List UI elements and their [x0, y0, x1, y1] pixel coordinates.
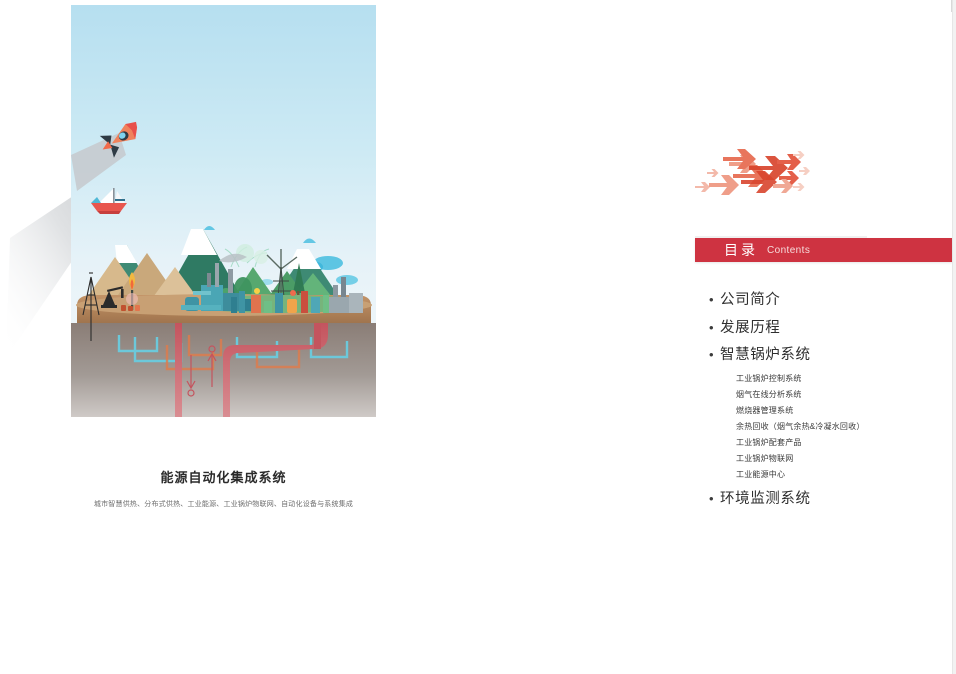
- toc-item-label: 发展历程: [720, 320, 780, 337]
- poster-subtitle: 城市智慧供热、分布式供热、工业能源、工业锅炉物联网、自动化设备与系统集成: [71, 500, 376, 510]
- poster-scene-svg: [71, 5, 376, 417]
- toc-sublist: 工业锅炉控制系统 烟气在线分析系统 燃烧器管理系统 余热回收（烟气余热&冷凝水回…: [709, 375, 953, 479]
- toc-subitem[interactable]: 工业锅炉控制系统: [736, 375, 953, 383]
- section-header-bar: 目录 Contents: [695, 238, 953, 262]
- bullet-icon: •: [709, 321, 720, 334]
- document-page: 能源自动化集成系统 城市智慧供热、分布式供热、工业能源、工业锅炉物联网、自动化设…: [0, 0, 956, 674]
- toc-subitem[interactable]: 工业锅炉配套产品: [736, 439, 953, 447]
- toc-subitem[interactable]: 余热回收（烟气余热&冷凝水回收）: [736, 423, 953, 431]
- bullet-icon: •: [709, 293, 720, 306]
- bullet-icon: •: [709, 492, 720, 505]
- page-right-edge: [952, 0, 956, 674]
- toc-item-history[interactable]: • 发展历程: [709, 320, 953, 337]
- toc-subitem[interactable]: 工业锅炉物联网: [736, 455, 953, 463]
- toc-item-smart-boiler-system[interactable]: • 智慧锅炉系统: [709, 347, 953, 364]
- section-title-en: Contents: [767, 245, 810, 256]
- page-edge-tick: [951, 0, 952, 12]
- contents-panel: 目录 Contents • 公司简介 • 发展历程 • 智慧锅炉系统 工业锅炉控…: [695, 140, 953, 519]
- bullet-icon: •: [709, 348, 720, 361]
- toc-subitem[interactable]: 燃烧器管理系统: [736, 407, 953, 415]
- arrow-cluster-logo-icon: [693, 140, 818, 202]
- toc-subitem[interactable]: 工业能源中心: [736, 471, 953, 479]
- section-title-cn: 目录: [724, 240, 758, 260]
- table-of-contents: • 公司简介 • 发展历程 • 智慧锅炉系统 工业锅炉控制系统 烟气在线分析系统…: [695, 292, 953, 508]
- poster-illustration: [71, 5, 376, 417]
- toc-item-label: 智慧锅炉系统: [720, 347, 811, 364]
- toc-item-company-intro[interactable]: • 公司简介: [709, 292, 953, 309]
- poster-caption: 能源自动化集成系统 城市智慧供热、分布式供热、工业能源、工业锅炉物联网、自动化设…: [71, 470, 376, 510]
- toc-item-label: 公司简介: [720, 292, 780, 309]
- toc-item-label: 环境监测系统: [720, 491, 811, 508]
- poster-title: 能源自动化集成系统: [71, 470, 376, 487]
- toc-subitem[interactable]: 烟气在线分析系统: [736, 391, 953, 399]
- toc-item-environment-monitoring[interactable]: • 环境监测系统: [709, 491, 953, 508]
